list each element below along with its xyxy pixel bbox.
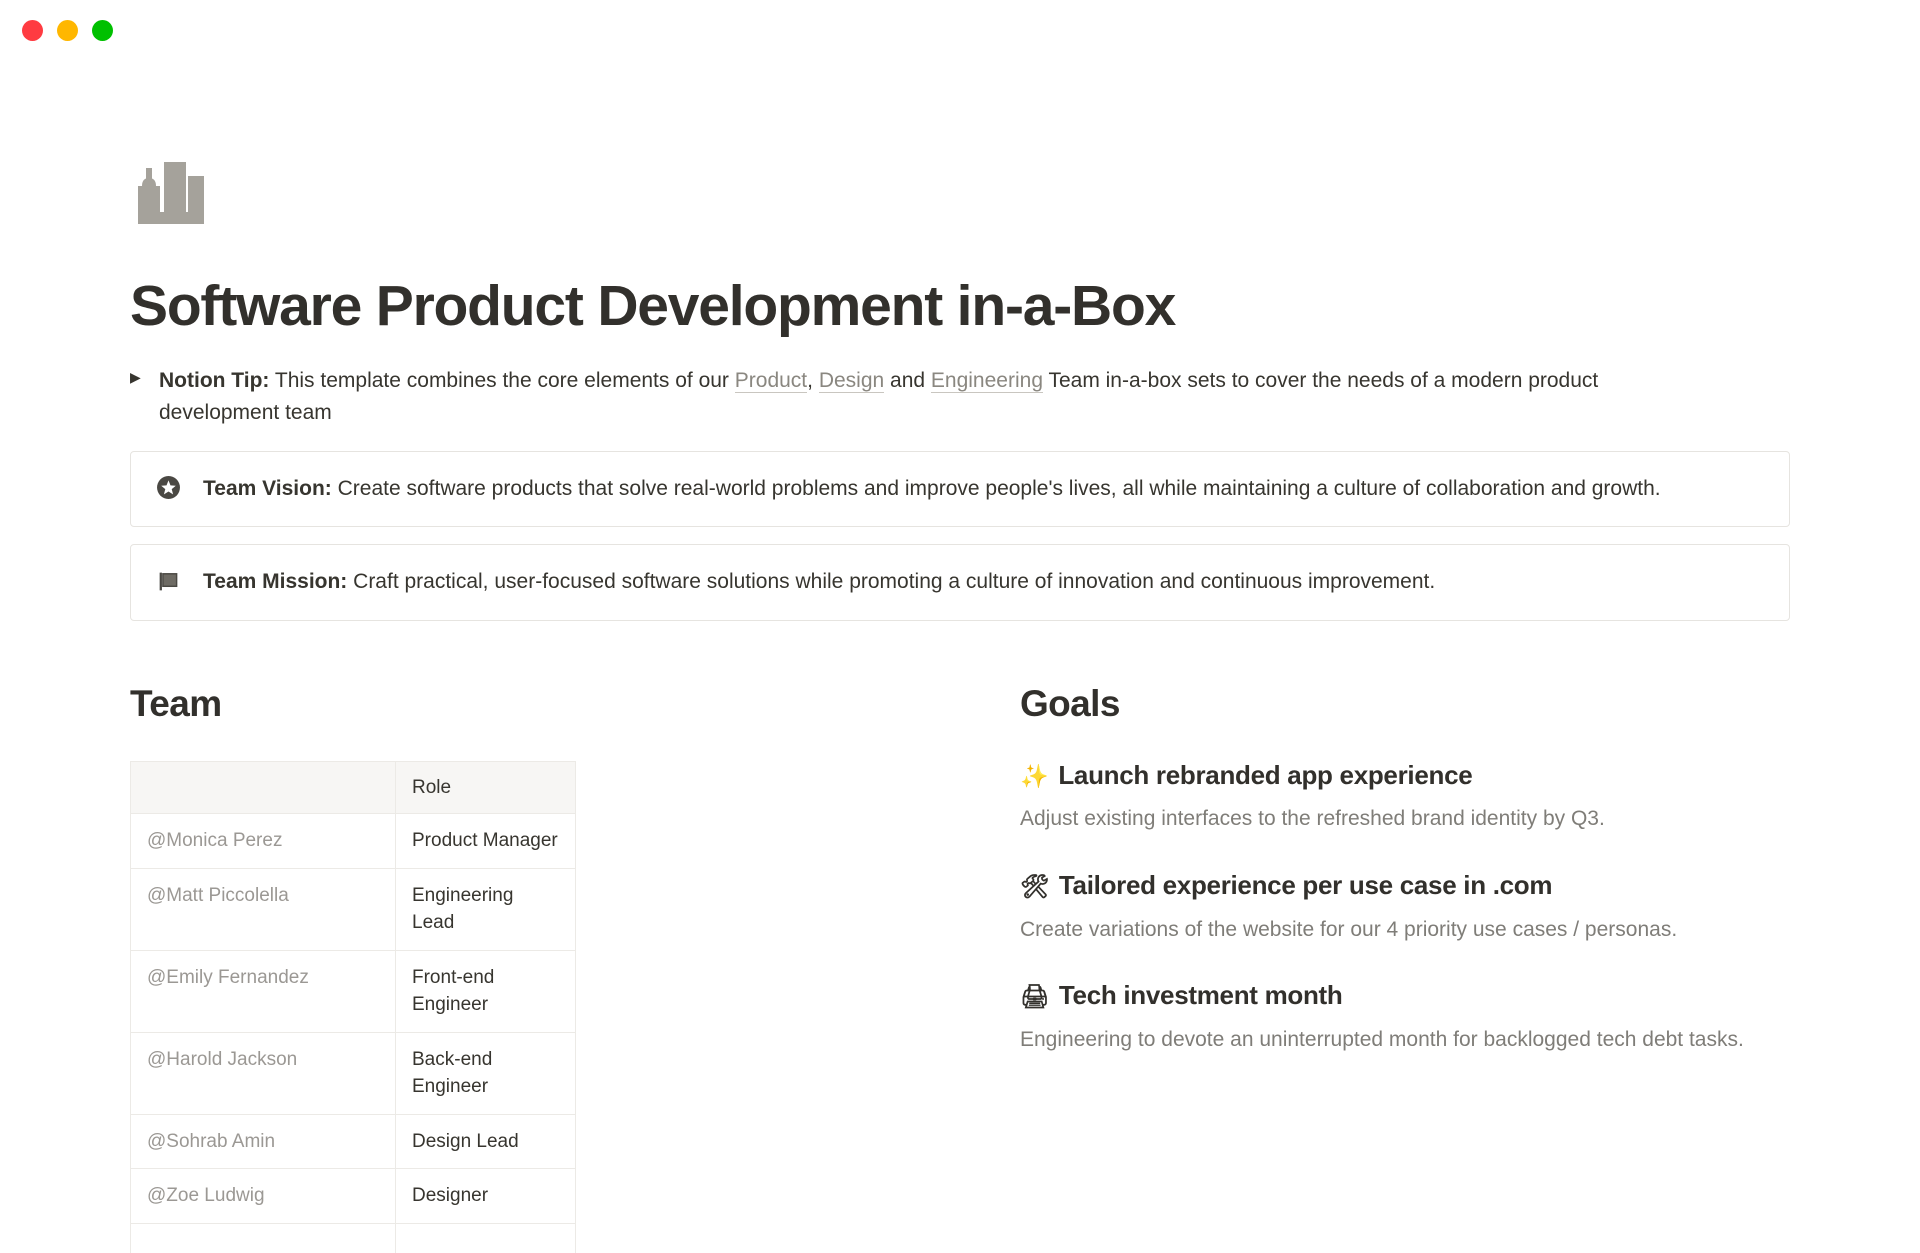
callout-team-mission-text: Team Mission: Craft practical, user-focu… <box>203 567 1435 597</box>
goal-title: Tailored experience per use case in .com <box>1059 869 1552 903</box>
link-engineering[interactable]: Engineering <box>931 369 1043 393</box>
notion-tip-text: Notion Tip: This template combines the c… <box>159 365 1670 429</box>
callout-team-vision-label: Team Vision: <box>203 477 332 500</box>
page-root: Software Product Development in-a-Box ▶ … <box>0 0 1920 1200</box>
team-role[interactable]: Back-end Engineer <box>396 1032 576 1114</box>
callout-team-mission-body: Craft practical, user-focused software s… <box>347 570 1435 593</box>
team-col-person[interactable] <box>131 761 396 814</box>
notion-tip-before: This template combines the core elements… <box>269 369 734 392</box>
table-row[interactable]: @Monica Perez Product Manager <box>131 814 576 869</box>
goal-item: 🖨 Tech investment month Engineering to d… <box>1020 979 1790 1055</box>
goal-title-row: 🛠 Tailored experience per use case in .c… <box>1020 869 1790 903</box>
team-role[interactable]: Design Lead <box>396 1114 576 1169</box>
lower-columns: Team Role @Monica Perez Product Manager <box>130 683 1790 1253</box>
hammer-and-wrench-icon: 🛠 <box>1020 875 1049 898</box>
team-person[interactable]: @Sohrab Amin <box>131 1114 396 1169</box>
team-heading: Team <box>130 683 990 725</box>
team-role[interactable]: Front-end Engineer <box>396 950 576 1032</box>
goals-list: ✨ Launch rebranded app experience Adjust… <box>1020 759 1790 1056</box>
table-row[interactable]: @Emily Fernandez Front-end Engineer <box>131 950 576 1032</box>
page-title: Software Product Development in-a-Box <box>130 275 1790 339</box>
table-row[interactable]: @Harold Jackson Back-end Engineer <box>131 1032 576 1114</box>
team-person[interactable]: @Harold Jackson <box>131 1032 396 1114</box>
printer-icon: 🖨 <box>1020 985 1049 1008</box>
callout-team-mission-label: Team Mission: <box>203 570 347 593</box>
goal-title: Tech investment month <box>1059 979 1343 1013</box>
goal-item: ✨ Launch rebranded app experience Adjust… <box>1020 759 1790 835</box>
window-maximize-button[interactable] <box>92 20 113 41</box>
tip-sep-1: , <box>807 369 819 392</box>
team-table-header-row: Role <box>131 761 576 814</box>
page-content: Software Product Development in-a-Box ▶ … <box>130 0 1790 1253</box>
callout-team-vision-body: Create software products that solve real… <box>332 477 1661 500</box>
team-person-empty[interactable] <box>131 1223 396 1253</box>
team-table: Role @Monica Perez Product Manager @Matt… <box>130 761 576 1253</box>
team-col-role[interactable]: Role <box>396 761 576 814</box>
notion-tip-toggle[interactable]: ▶ Notion Tip: This template combines the… <box>130 365 1670 429</box>
toggle-arrow-icon[interactable]: ▶ <box>130 370 150 384</box>
goal-title-row: ✨ Launch rebranded app experience <box>1020 759 1790 793</box>
team-role[interactable]: Engineering Lead <box>396 868 576 950</box>
callout-team-mission: Team Mission: Craft practical, user-focu… <box>130 544 1790 620</box>
team-section: Team Role @Monica Perez Product Manager <box>130 683 990 1253</box>
team-role[interactable]: Product Manager <box>396 814 576 869</box>
team-person[interactable]: @Zoe Ludwig <box>131 1169 396 1224</box>
sparkles-icon: ✨ <box>1020 765 1048 788</box>
table-row[interactable]: @Matt Piccolella Engineering Lead <box>131 868 576 950</box>
callout-team-vision-text: Team Vision: Create software products th… <box>203 474 1661 504</box>
goal-description: Create variations of the website for our… <box>1020 915 1790 945</box>
callout-team-vision: Team Vision: Create software products th… <box>130 451 1790 527</box>
flag-icon <box>155 568 181 594</box>
goal-description: Adjust existing interfaces to the refres… <box>1020 804 1790 834</box>
window-close-button[interactable] <box>22 20 43 41</box>
goal-title-row: 🖨 Tech investment month <box>1020 979 1790 1013</box>
team-role-empty[interactable] <box>396 1223 576 1253</box>
goal-item: 🛠 Tailored experience per use case in .c… <box>1020 869 1790 945</box>
goal-title: Launch rebranded app experience <box>1058 759 1472 793</box>
window-controls <box>22 20 113 41</box>
team-person[interactable]: @Matt Piccolella <box>131 868 396 950</box>
tip-sep-2: and <box>884 369 931 392</box>
window-minimize-button[interactable] <box>57 20 78 41</box>
star-circle-icon <box>155 475 181 501</box>
team-person[interactable]: @Monica Perez <box>131 814 396 869</box>
table-row-partial[interactable] <box>131 1223 576 1253</box>
team-person[interactable]: @Emily Fernandez <box>131 950 396 1032</box>
goals-section: Goals ✨ Launch rebranded app experience … <box>990 683 1790 1253</box>
link-product[interactable]: Product <box>735 369 807 393</box>
table-row[interactable]: @Sohrab Amin Design Lead <box>131 1114 576 1169</box>
notion-tip-label: Notion Tip: <box>159 369 269 392</box>
goals-heading: Goals <box>1020 683 1790 725</box>
goal-description: Engineering to devote an uninterrupted m… <box>1020 1025 1790 1055</box>
table-row[interactable]: @Zoe Ludwig Designer <box>131 1169 576 1224</box>
link-design[interactable]: Design <box>819 369 884 393</box>
team-role[interactable]: Designer <box>396 1169 576 1224</box>
factory-icon[interactable] <box>130 150 210 230</box>
